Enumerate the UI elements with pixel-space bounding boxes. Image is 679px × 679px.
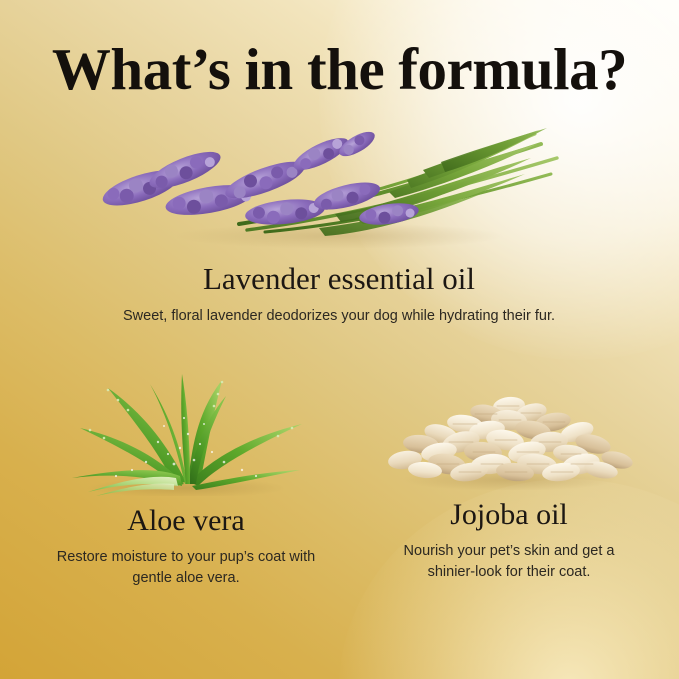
formula-poster: What’s in the formula?	[0, 0, 679, 679]
aloe-vera-plant-image	[46, 366, 326, 496]
ingredient-description-lavender: Sweet, floral lavender deodorizes your d…	[89, 306, 589, 327]
ingredient-card-aloe: Aloe vera Restore moisture to your pup’s…	[46, 366, 326, 589]
ingredient-card-jojoba: Jojoba oil Nourish your pet’s skin and g…	[369, 380, 649, 583]
ingredient-description-jojoba: Nourish your pet’s skin and get a shinie…	[369, 541, 649, 583]
jojoba-oat-flakes-image	[369, 380, 649, 490]
lavender-sprigs-image	[89, 118, 589, 250]
ingredient-name-aloe: Aloe vera	[46, 504, 326, 537]
ingredient-name-jojoba: Jojoba oil	[369, 498, 649, 531]
ingredient-name-lavender: Lavender essential oil	[89, 262, 589, 296]
page-title: What’s in the formula?	[0, 40, 679, 99]
ingredient-card-lavender: Lavender essential oil Sweet, floral lav…	[89, 118, 589, 327]
ingredient-description-aloe: Restore moisture to your pup’s coat with…	[46, 547, 326, 589]
